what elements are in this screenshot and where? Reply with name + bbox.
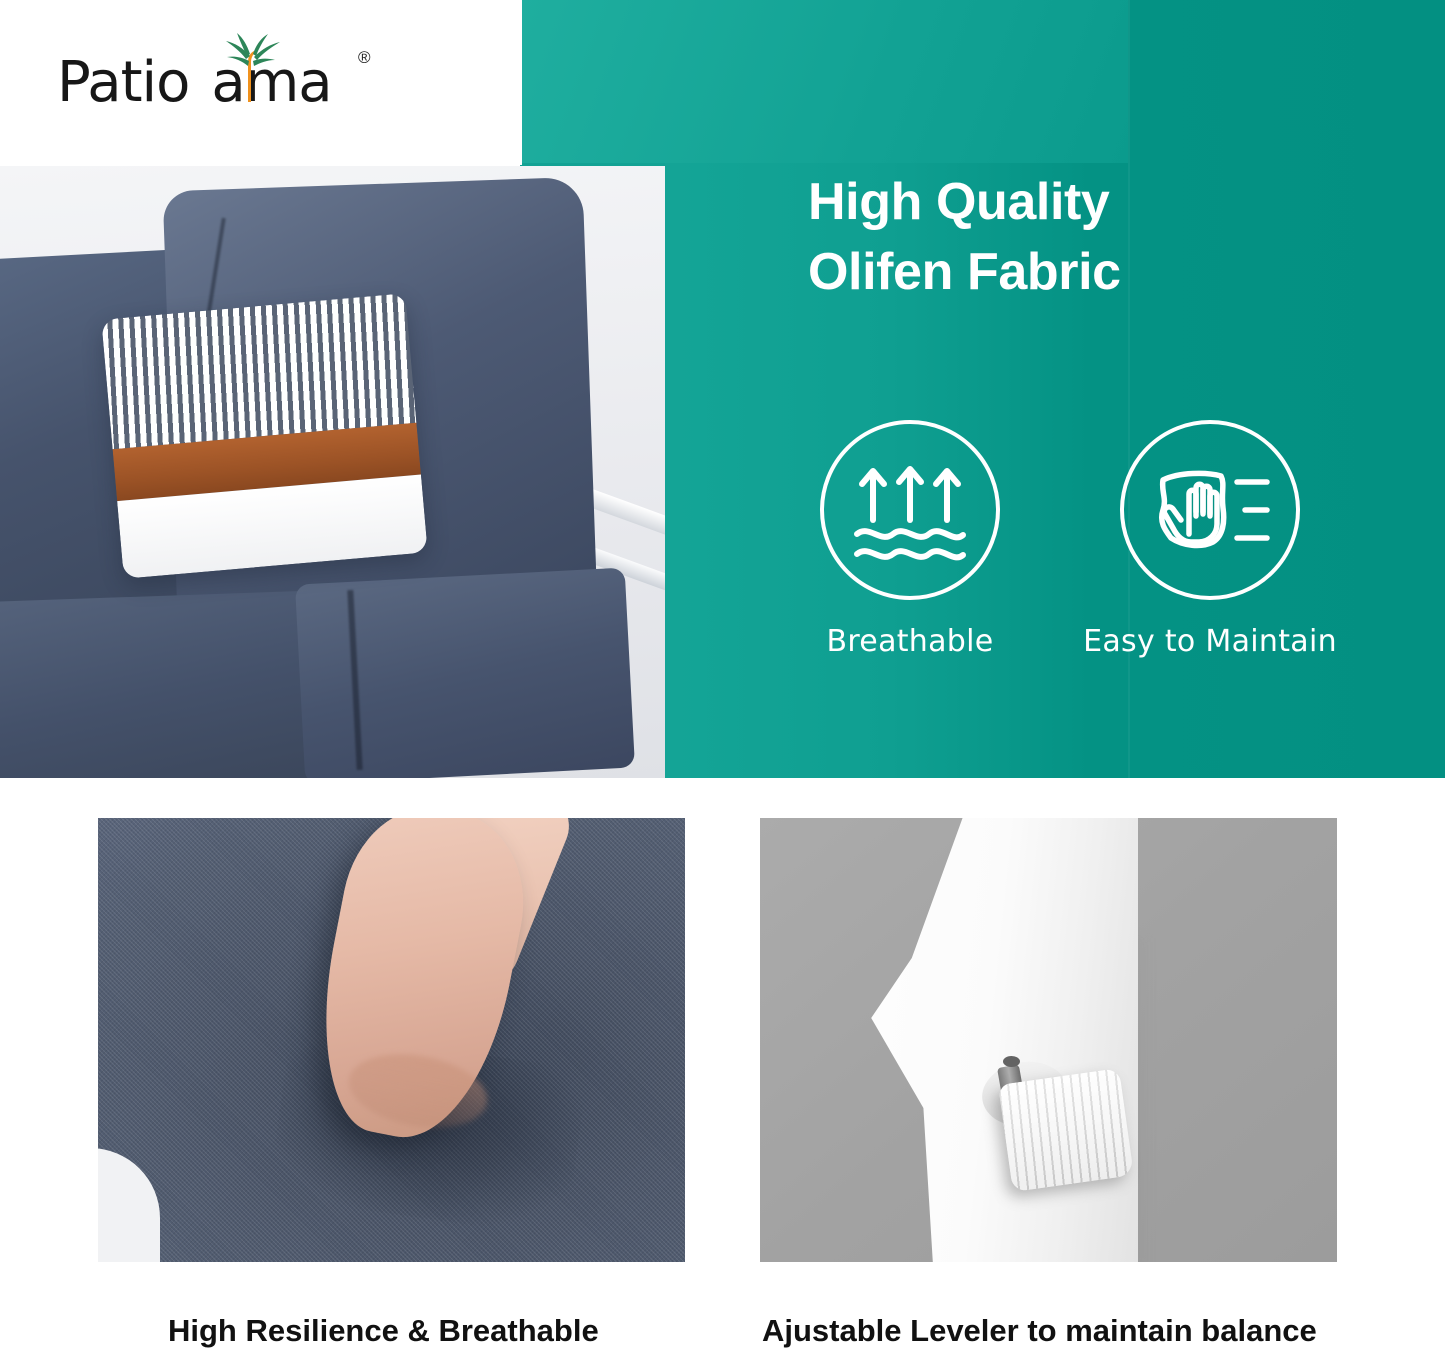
headline-line-2: Olifen Fabric <box>808 238 1368 308</box>
feature-easy-to-maintain: Easy to Maintain <box>1110 420 1310 690</box>
accent-pillow <box>101 293 427 579</box>
logo-block: Patiorama ® <box>0 0 522 165</box>
hero-sofa-photo: ✳ ✳ ✳ ✳ <box>0 166 665 778</box>
easy-to-maintain-wipe-icon <box>1120 420 1300 600</box>
hero-headline: High Quality Olifen Fabric <box>808 168 1368 307</box>
teal-gradient-upper-left <box>520 0 1128 163</box>
caption-adjustable-leveler: Ajustable Leveler to maintain balance <box>762 1313 1317 1349</box>
brand-name: Patiorama <box>57 50 332 115</box>
palm-tree-icon <box>217 32 287 104</box>
feature-list: Breathable Easy to Maintain <box>760 420 1360 690</box>
brand-name-prefix: Patio <box>57 50 189 115</box>
registered-mark: ® <box>358 48 371 68</box>
feature-breathable: Breathable <box>810 420 1010 690</box>
brand-logo: Patiorama ® <box>57 50 387 130</box>
headline-line-1: High Quality <box>808 168 1368 238</box>
breathable-airflow-icon <box>820 420 1000 600</box>
detail-photo-leveler <box>760 818 1337 1262</box>
feature-label-easy-to-maintain: Easy to Maintain <box>1083 624 1337 659</box>
leveler-screw-cap <box>1003 1056 1020 1067</box>
feature-label-breathable: Breathable <box>826 624 993 659</box>
detail-photo-resilience <box>98 818 685 1262</box>
sofa-seat-cushion-right <box>295 568 635 778</box>
caption-high-resilience: High Resilience & Breathable <box>168 1313 599 1349</box>
adjustable-leveler-knob <box>998 1068 1134 1192</box>
